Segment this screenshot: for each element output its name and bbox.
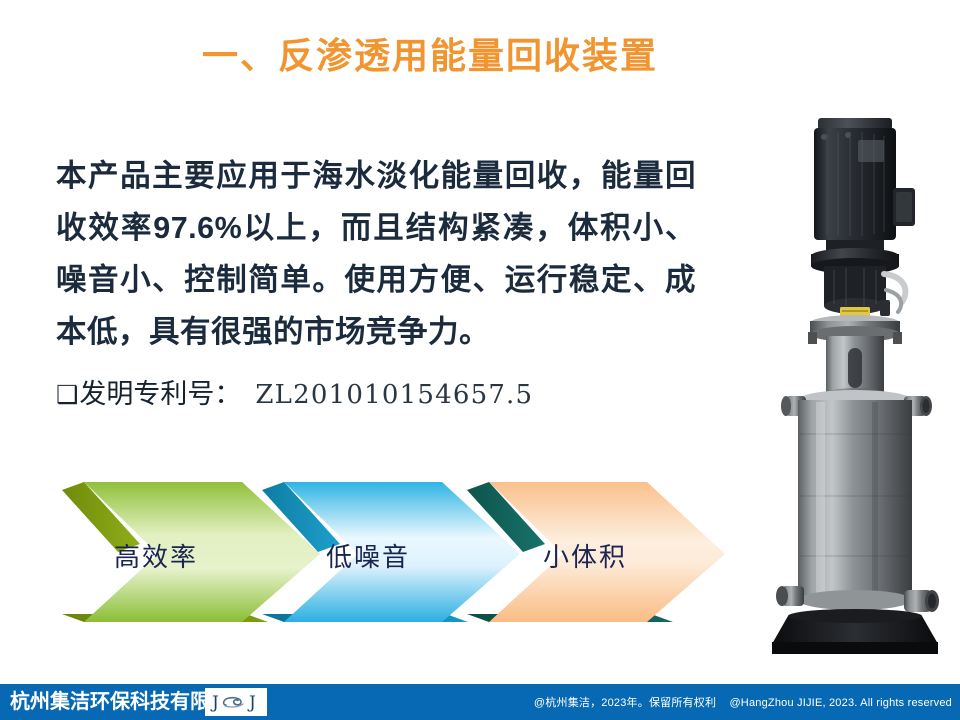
page-title: 一、反渗透用能量回收装置 xyxy=(0,34,860,77)
patent-number-line: ❑ 发明专利号： ZL201010154657.5 xyxy=(56,372,696,411)
patent-label: 发明专利号： xyxy=(79,372,241,411)
pump-illustration-icon xyxy=(752,104,960,664)
footer-copyright-cn: @杭州集洁，2023年。保留所有权利 xyxy=(534,697,716,709)
product-description-paragraph: 本产品主要应用于海水淡化能量回收，能量回收效率97.6%以上，而且结构紧凑，体积… xyxy=(56,150,696,358)
chevron-small-volume: 小体积 xyxy=(467,482,725,630)
chevron-label-small-volume: 小体积 xyxy=(543,537,627,574)
hollow-square-bullet-icon: ❑ xyxy=(56,382,78,407)
chevron-label-high-efficiency: 高效率 xyxy=(114,537,198,574)
company-logo: J J xyxy=(205,688,267,716)
pump-product-photo xyxy=(752,104,960,664)
patent-number-value: ZL201010154657.5 xyxy=(255,380,533,410)
body-text-block: 本产品主要应用于海水淡化能量回收，能量回收效率97.6%以上，而且结构紧凑，体积… xyxy=(56,150,696,411)
feature-chevron-row: 高效率 xyxy=(62,482,702,632)
chevron-label-low-noise: 低噪音 xyxy=(326,537,410,574)
svg-text:J: J xyxy=(210,693,219,713)
footer-bar: 杭州集洁环保科技有限公司 J J @杭州集洁，2023年。保留所有权利 @Han… xyxy=(0,684,960,720)
slide-root: 一、反渗透用能量回收装置 本产品主要应用于海水淡化能量回收，能量回收效率97.6… xyxy=(0,0,960,720)
footer-copyright-en: @HangZhou JIJIE, 2023. All rights reserv… xyxy=(729,697,952,709)
footer-copyright: @杭州集洁，2023年。保留所有权利 @HangZhou JIJIE, 2023… xyxy=(534,694,952,710)
svg-text:J: J xyxy=(247,693,256,713)
jijie-logo-icon: J J xyxy=(209,691,263,713)
